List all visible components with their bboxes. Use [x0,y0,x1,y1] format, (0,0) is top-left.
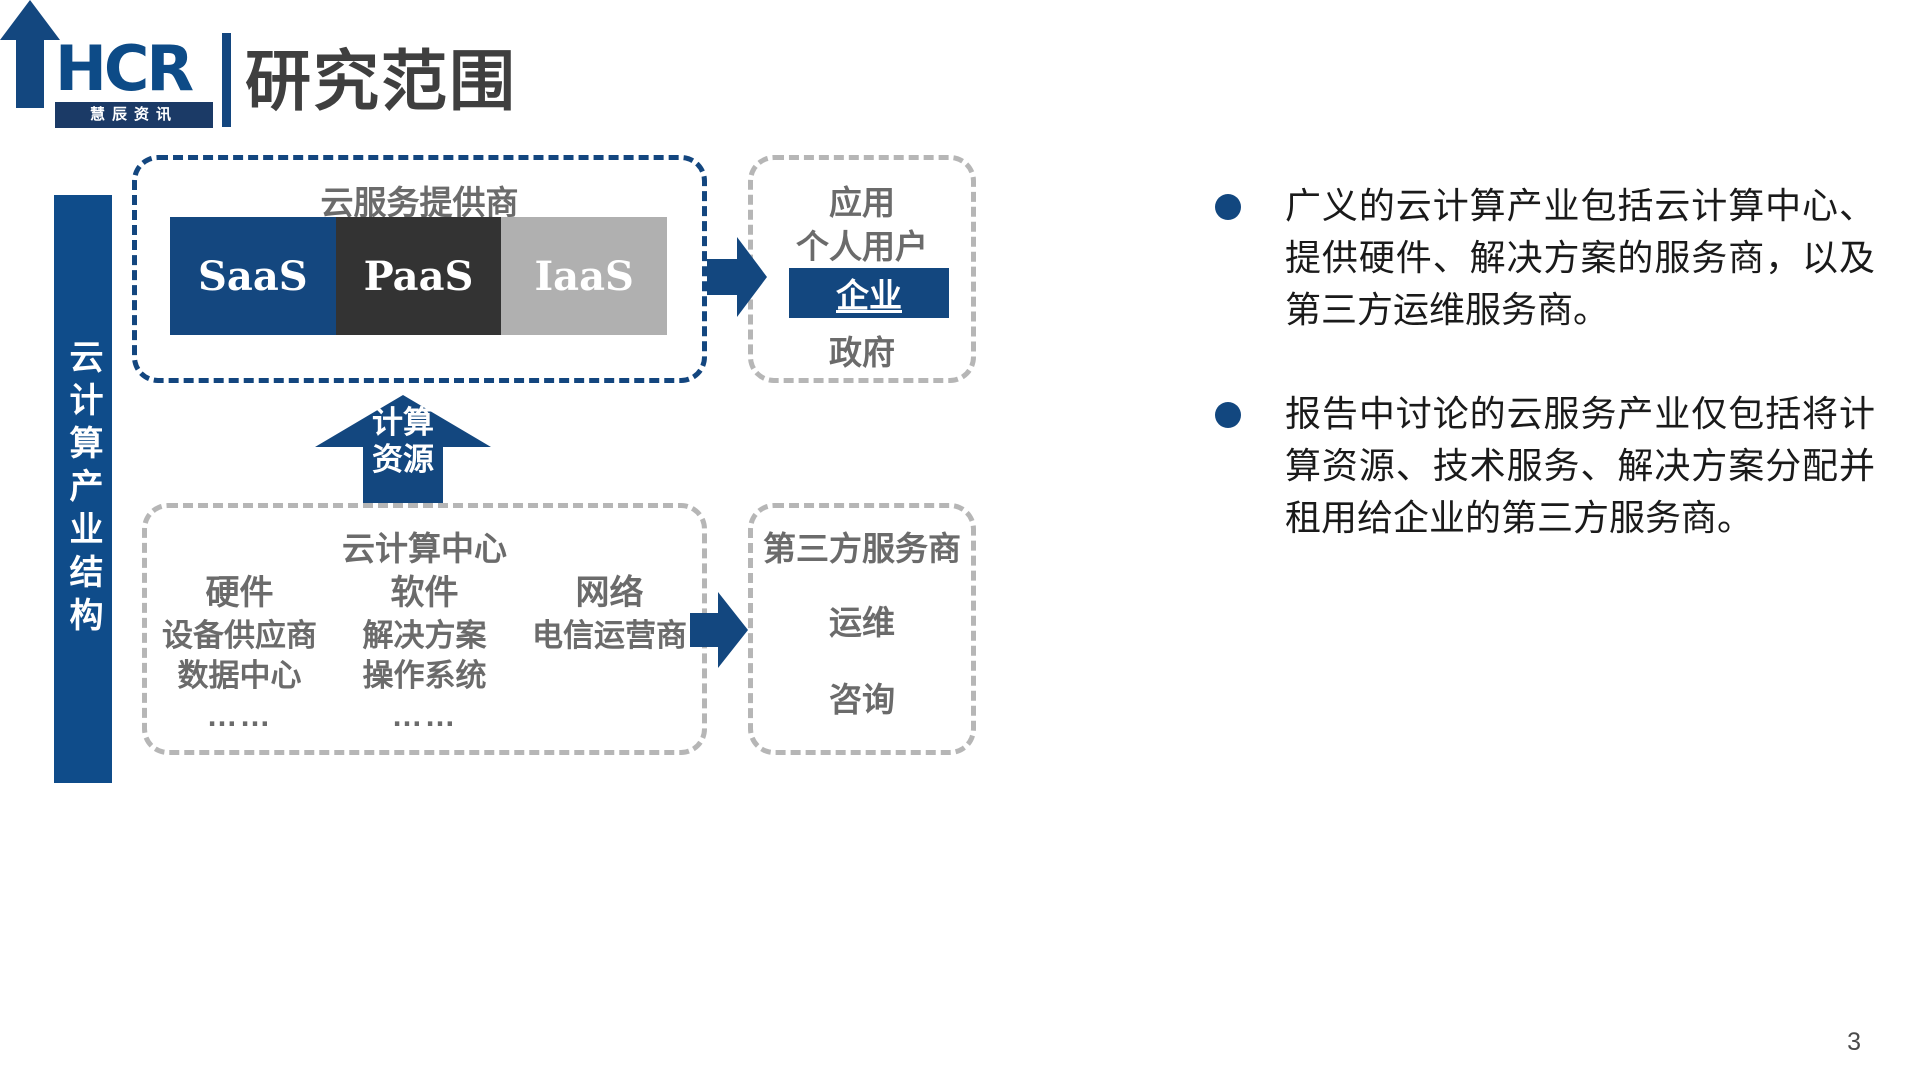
column-head-software: 软件 [332,570,517,616]
title-divider [222,33,231,127]
application-enterprise-highlight: 企业 [789,268,949,318]
bullet-text-1: 广义的云计算产业包括云计算中心、提供硬件、解决方案的服务商，以及第三方运维服务商… [1285,180,1875,336]
software-ellipsis: …… [332,696,517,736]
column-head-network: 网络 [517,570,702,616]
software-line-1: 解决方案 [332,616,517,656]
computing-resources-line-2: 资源 [315,441,491,478]
computing-resources-line-1: 计算 [315,404,491,441]
cloud-computing-center-title: 云计算中心 [147,522,702,570]
cloud-center-columns: 硬件 设备供应商 数据中心 …… 软件 解决方案 操作系统 …… 网络 电信运营… [147,570,702,736]
hardware-ellipsis: …… [147,696,332,736]
third-party-provider-box: 第三方服务商 运维 咨询 [748,503,976,755]
iaas-cell: IaaS [501,217,667,335]
industry-structure-sidebar: 云计算产业结构 [54,195,112,783]
cloud-computing-center-box: 云计算中心 硬件 设备供应商 数据中心 …… 软件 解决方案 操作系统 …… 网… [142,503,707,755]
cloud-center-column-software: 软件 解决方案 操作系统 …… [332,570,517,736]
slide-header: HCR 慧辰资讯 研究范围 [0,0,1919,150]
column-head-hardware: 硬件 [147,570,332,616]
third-party-title: 第三方服务商 [753,522,971,570]
application-government: 政府 [753,326,971,374]
hardware-line-2: 数据中心 [147,656,332,696]
page-number: 3 [1847,1028,1861,1057]
third-party-item-ops: 运维 [753,596,971,644]
network-line-1: 电信运营商 [517,616,702,656]
sidebar-vertical-label: 云计算产业结构 [54,339,112,640]
arrow-right-to-third-party-icon [690,592,748,668]
bullet-item: 报告中讨论的云服务产业仅包括将计算资源、技术服务、解决方案分配并租用给企业的第三… [1215,388,1875,544]
cloud-center-column-network: 网络 电信运营商 [517,570,702,736]
notes-bullet-list: 广义的云计算产业包括云计算中心、提供硬件、解决方案的服务商，以及第三方运维服务商… [1215,180,1875,596]
software-line-2: 操作系统 [332,656,517,696]
third-party-item-consulting: 咨询 [753,673,971,721]
bullet-text-2: 报告中讨论的云服务产业仅包括将计算资源、技术服务、解决方案分配并租用给企业的第三… [1285,388,1875,544]
application-enterprise-label: 企业 [836,269,902,317]
bullet-dot-icon [1215,194,1241,220]
page-title: 研究范围 [245,38,517,124]
application-individual-users: 个人用户 [753,220,971,268]
bullet-dot-icon [1215,402,1241,428]
paas-cell: PaaS [336,217,502,335]
service-model-strip: SaaS PaaS IaaS [170,217,667,335]
hardware-line-1: 设备供应商 [147,616,332,656]
computing-resources-label: 计算 资源 [315,404,491,478]
application-title: 应用 [753,176,971,224]
application-users-box: 应用 个人用户 企业 政府 [748,155,976,383]
arrow-right-to-application-icon [707,237,767,317]
bullet-item: 广义的云计算产业包括云计算中心、提供硬件、解决方案的服务商，以及第三方运维服务商… [1215,180,1875,336]
logo-wordmark: HCR [55,38,215,100]
logo-subtitle: 慧辰资讯 [55,102,213,128]
saas-cell: SaaS [170,217,336,335]
hcr-logo: HCR 慧辰资讯 [55,38,215,124]
cloud-center-column-hardware: 硬件 设备供应商 数据中心 …… [147,570,332,736]
